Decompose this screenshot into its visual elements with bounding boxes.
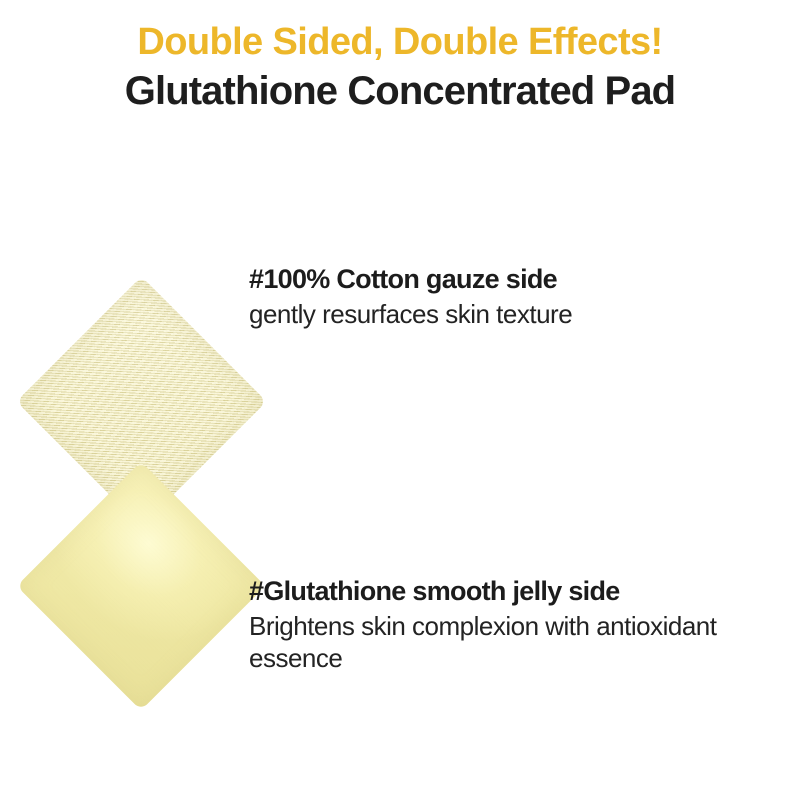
pad-jelly-sheen-overlay (17, 462, 266, 711)
pad-gauze-side-image (53, 313, 230, 490)
product-feature-banner: Double Sided, Double Effects! Glutathion… (0, 0, 800, 800)
feature-title-cotton-gauze-side: #100% Cotton gauze side (249, 263, 794, 295)
feature-text-cotton-gauze-side: #100% Cotton gauze side gently resurface… (249, 263, 794, 331)
banner-header: Double Sided, Double Effects! Glutathion… (0, 22, 800, 114)
feature-title-glutathione-jelly-side: #Glutathione smooth jelly side (249, 575, 794, 607)
feature-row-cotton-gauze-side: #100% Cotton gauze side gently resurface… (0, 150, 800, 450)
headline: Double Sided, Double Effects! (0, 22, 800, 63)
pad-jelly-side-image (53, 498, 229, 674)
feature-row-glutathione-jelly-side: #Glutathione smooth jelly side Brightens… (0, 480, 800, 790)
feature-description-cotton-gauze-side: gently resurfaces skin texture (249, 299, 794, 331)
feature-description-glutathione-jelly-side: Brightens skin complexion with antioxida… (249, 611, 794, 674)
product-title: Glutathione Concentrated Pad (0, 69, 800, 114)
feature-text-glutathione-jelly-side: #Glutathione smooth jelly side Brightens… (249, 575, 794, 675)
pad-jelly-surface (17, 462, 266, 711)
